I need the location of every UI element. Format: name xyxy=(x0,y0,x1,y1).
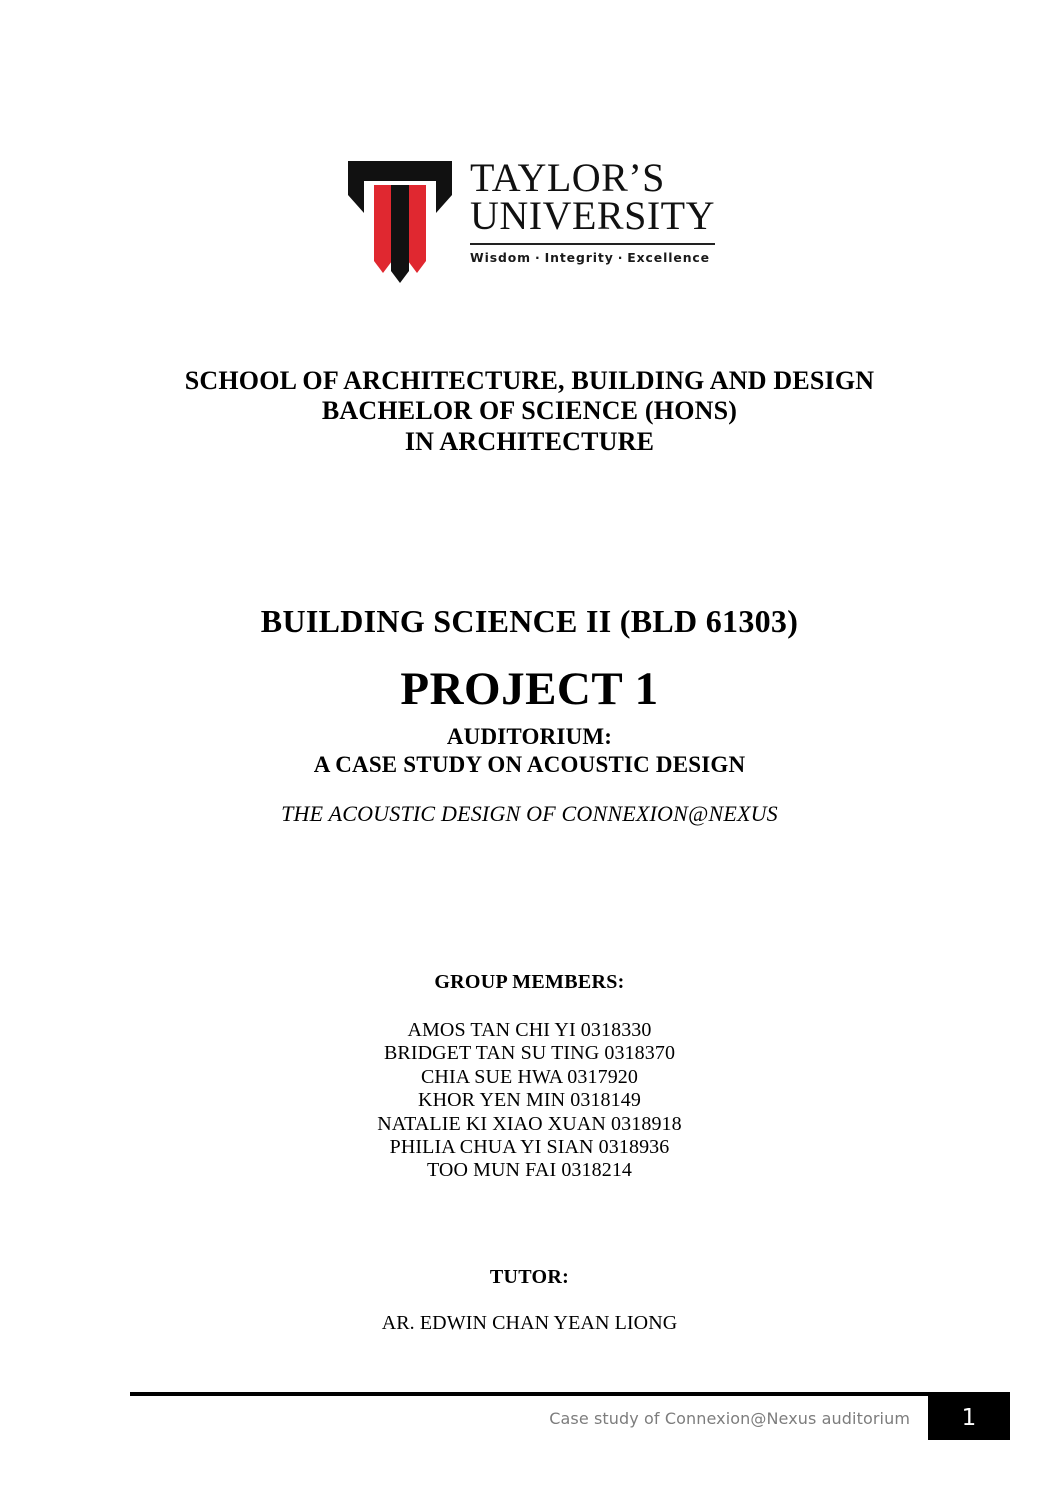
tutor-name: AR. EDWIN CHAN YEAN LIONG xyxy=(0,1312,1059,1335)
list-item: AMOS TAN CHI YI 0318330 xyxy=(0,1019,1059,1042)
tagline-word-integrity: Integrity xyxy=(545,250,614,265)
logo-divider xyxy=(470,243,715,245)
project-subtitle-line-1: AUDITORIUM: xyxy=(0,723,1059,751)
list-item: NATALIE KI XIAO XUAN 0318918 xyxy=(0,1113,1059,1136)
group-members-list: AMOS TAN CHI YI 0318330 BRIDGET TAN SU T… xyxy=(0,1019,1059,1183)
taylors-shield-icon xyxy=(344,155,456,283)
logo-inner: TAYLOR’S UNIVERSITY Wisdom·Integrity·Exc… xyxy=(344,155,715,283)
list-item: KHOR YEN MIN 0318149 xyxy=(0,1089,1059,1112)
logo-wordmark-line1: TAYLOR’S xyxy=(470,159,715,197)
footer-caption: Case study of Connexion@Nexus auditorium xyxy=(549,1409,928,1428)
school-heading-line-2: BACHELOR OF SCIENCE (HONS) xyxy=(0,396,1059,426)
university-logo: TAYLOR’S UNIVERSITY Wisdom·Integrity·Exc… xyxy=(0,155,1059,283)
school-heading-line-3: IN ARCHITECTURE xyxy=(0,427,1059,457)
list-item: CHIA SUE HWA 0317920 xyxy=(0,1066,1059,1089)
tagline-separator-1: · xyxy=(531,250,545,265)
project-subject-italic: THE ACOUSTIC DESIGN OF CONNEXION@NEXUS xyxy=(0,801,1059,827)
page-title: PROJECT 1 xyxy=(0,662,1059,716)
list-item: TOO MUN FAI 0318214 xyxy=(0,1159,1059,1182)
group-members-heading: GROUP MEMBERS: xyxy=(0,971,1059,994)
project-subtitle: AUDITORIUM: A CASE STUDY ON ACOUSTIC DES… xyxy=(0,723,1059,778)
page-number: 1 xyxy=(962,1405,977,1431)
project-subtitle-line-2: A CASE STUDY ON ACOUSTIC DESIGN xyxy=(0,751,1059,779)
list-item: PHILIA CHUA YI SIAN 0318936 xyxy=(0,1136,1059,1159)
page-number-badge: 1 xyxy=(928,1396,1010,1440)
tagline-word-excellence: Excellence xyxy=(627,250,710,265)
list-item: BRIDGET TAN SU TING 0318370 xyxy=(0,1042,1059,1065)
tutor-heading: TUTOR: xyxy=(0,1266,1059,1289)
logo-wordmark-line2: UNIVERSITY xyxy=(470,197,715,235)
course-title: BUILDING SCIENCE II (BLD 61303) xyxy=(0,603,1059,640)
tagline-word-wisdom: Wisdom xyxy=(470,250,531,265)
logo-tagline: Wisdom·Integrity·Excellence xyxy=(470,250,715,265)
tagline-separator-2: · xyxy=(614,250,628,265)
logo-wordmark: TAYLOR’S UNIVERSITY Wisdom·Integrity·Exc… xyxy=(470,155,715,265)
school-heading-line-1: SCHOOL OF ARCHITECTURE, BUILDING AND DES… xyxy=(0,366,1059,396)
school-heading: SCHOOL OF ARCHITECTURE, BUILDING AND DES… xyxy=(0,366,1059,457)
page-footer: Case study of Connexion@Nexus auditorium… xyxy=(130,1396,1010,1440)
document-page: TAYLOR’S UNIVERSITY Wisdom·Integrity·Exc… xyxy=(0,0,1059,1497)
